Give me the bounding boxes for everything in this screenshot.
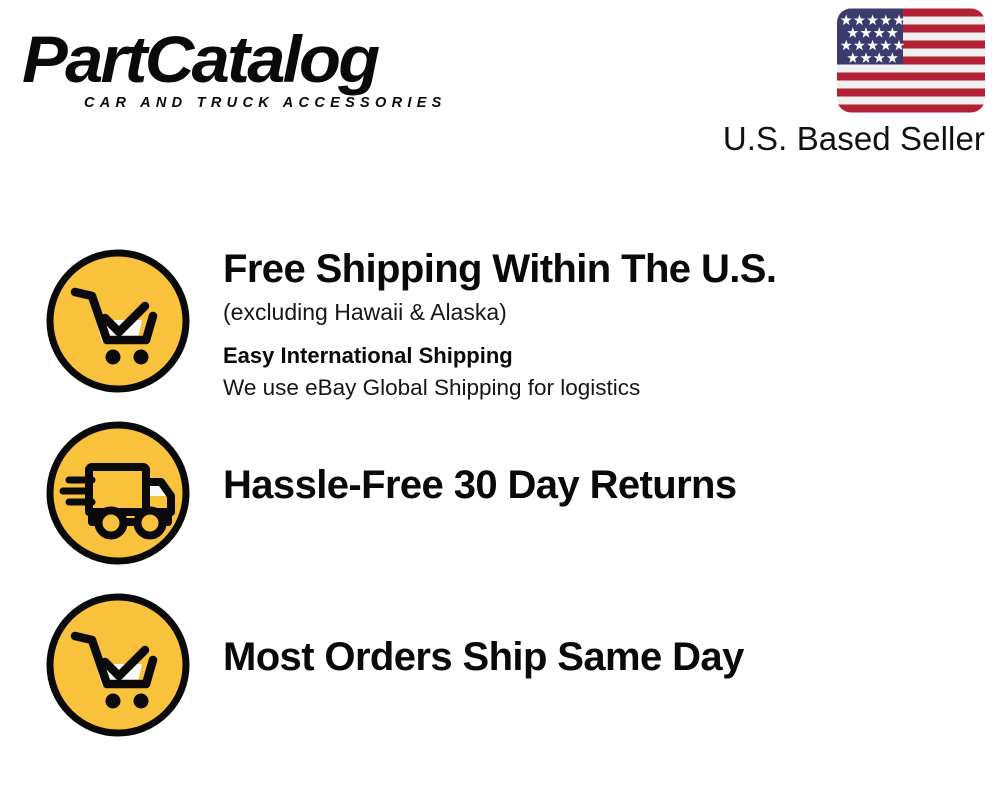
feature-heading: Most Orders Ship Same Day	[223, 636, 983, 679]
feature-heading: Free Shipping Within The U.S.	[223, 248, 983, 291]
delivery-truck-icon	[45, 420, 191, 566]
feature-row: Most Orders Ship Same Day	[0, 592, 1000, 742]
feature-row: Hassle-Free 30 Day Returns	[0, 420, 1000, 570]
cart-check-icon	[45, 592, 191, 738]
feature-row: Free Shipping Within The U.S. (excluding…	[0, 248, 1000, 398]
brand-wordmark: PartCatalog	[22, 26, 377, 92]
cart-check-icon	[45, 248, 191, 394]
feature-text-block: Free Shipping Within The U.S. (excluding…	[223, 248, 983, 402]
us-based-seller-block: U.S. Based Seller	[715, 8, 985, 158]
brand-tagline: CAR AND TRUCK ACCESSORIES	[84, 96, 447, 111]
feature-heading: Hassle-Free 30 Day Returns	[223, 464, 983, 507]
feature-subtext-note: We use eBay Global Shipping for logistic…	[223, 373, 983, 402]
feature-text-block: Most Orders Ship Same Day	[223, 636, 983, 679]
us-based-seller-label: U.S. Based Seller	[723, 119, 985, 159]
feature-subtext: (excluding Hawaii & Alaska)	[223, 298, 983, 328]
promo-banner: PartCatalog CAR AND TRUCK ACCESSORIES	[0, 0, 1000, 800]
feature-subtext-strong: Easy International Shipping	[223, 342, 983, 370]
brand-logo: PartCatalog CAR AND TRUCK ACCESSORIES	[22, 26, 492, 116]
us-flag-icon	[837, 8, 985, 113]
feature-text-block: Hassle-Free 30 Day Returns	[223, 464, 983, 507]
